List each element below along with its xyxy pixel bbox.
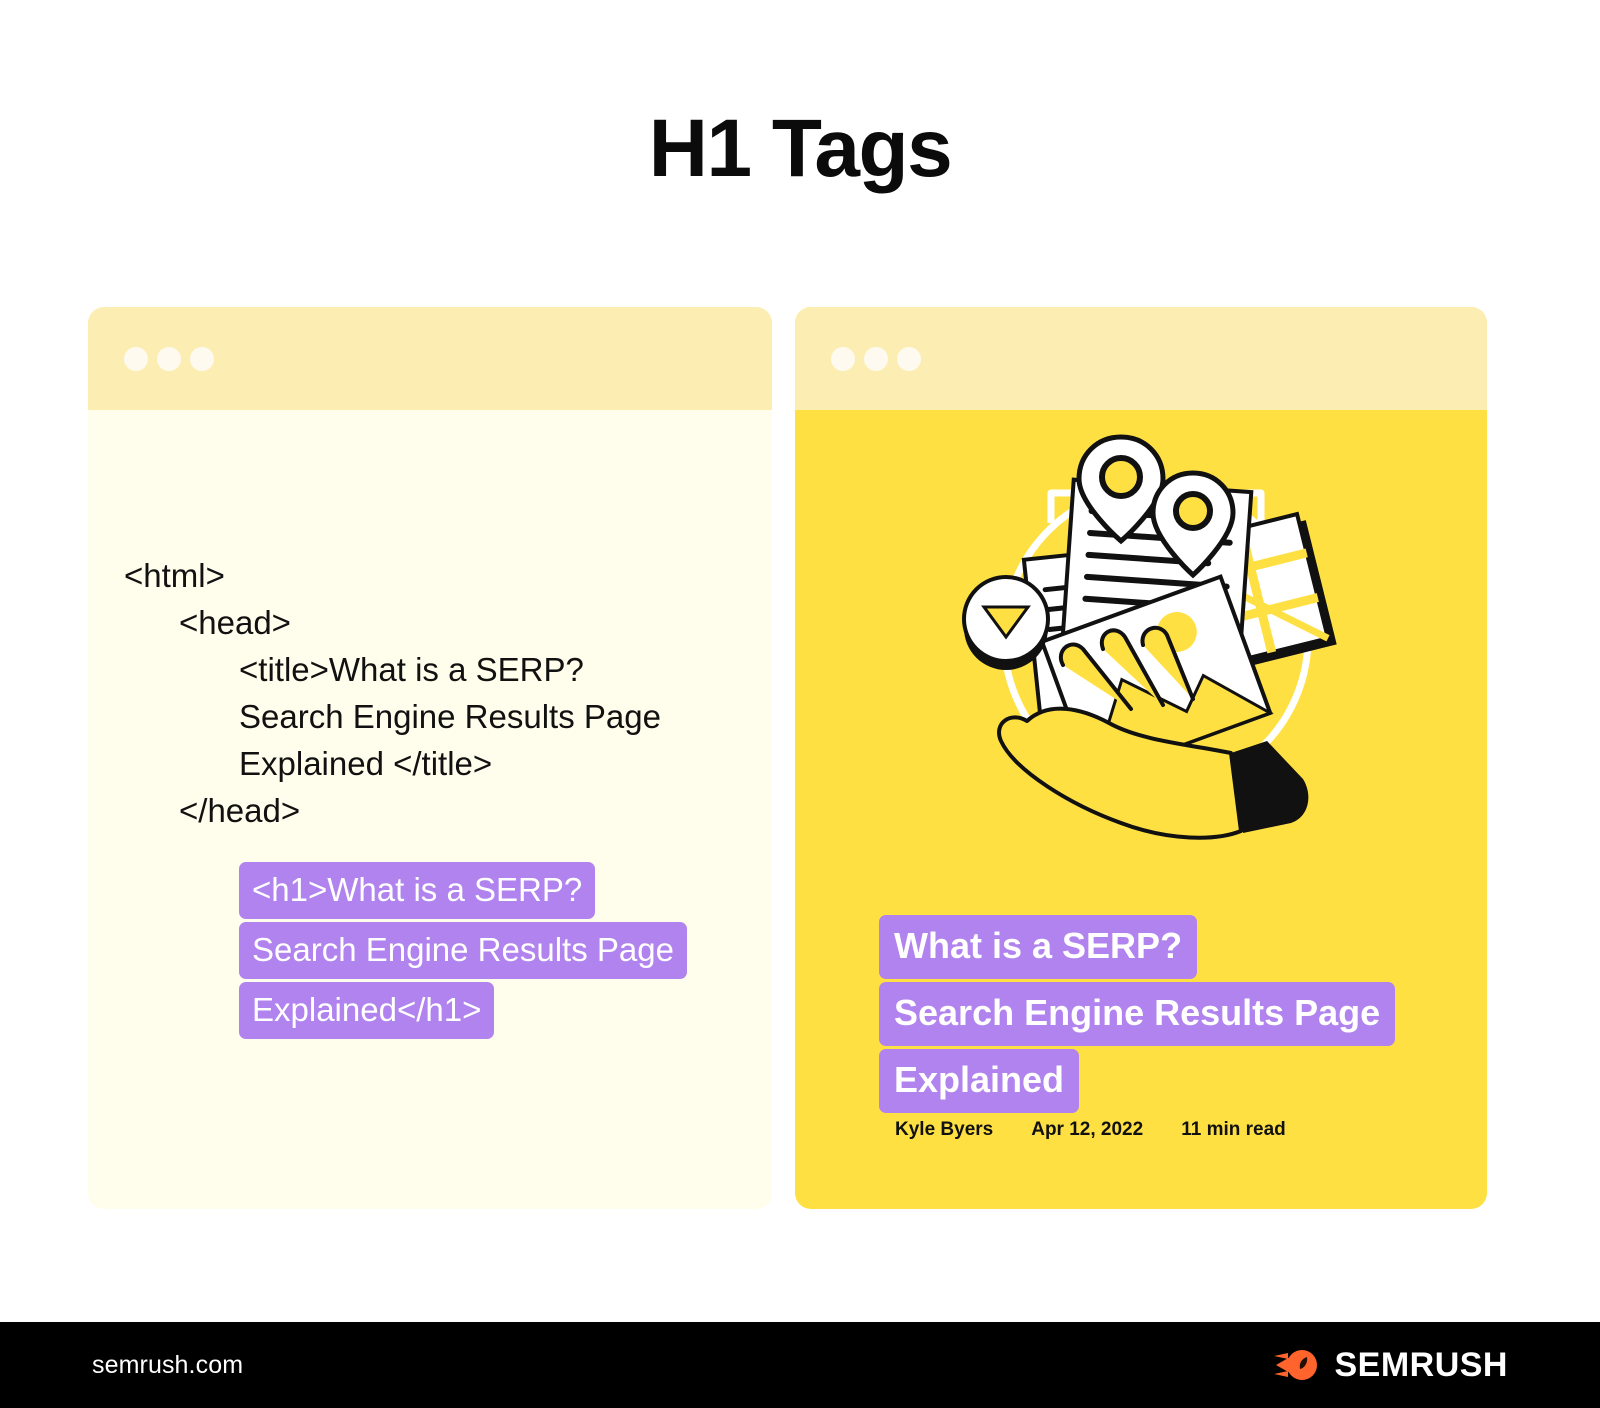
code-example-window: <html> <head> <title>What is a SERP? Sea… — [88, 307, 772, 1209]
hero-illustration-container — [795, 410, 1487, 865]
code-spacer — [124, 834, 772, 862]
code-line-title-cont: Search Engine Results Page — [124, 693, 772, 740]
article-h1-line-1: What is a SERP? — [879, 915, 1197, 979]
code-line-title-close: Explained </title> — [124, 740, 772, 787]
code-line-head-open: <head> — [124, 599, 772, 646]
h1-highlight-line-2: Search Engine Results Page — [239, 922, 687, 979]
h1-highlight-group: <h1>What is a SERP? Search Engine Result… — [124, 862, 772, 1042]
article-read-time: 11 min read — [1181, 1119, 1286, 1141]
window-dot-maximize-icon[interactable] — [897, 347, 921, 371]
window-dot-minimize-icon[interactable] — [864, 347, 888, 371]
window-dot-minimize-icon[interactable] — [157, 347, 181, 371]
code-line-html-open: <html> — [124, 552, 772, 599]
semrush-logo[interactable]: SEMRUSH — [1274, 1346, 1508, 1385]
footer-url[interactable]: semrush.com — [92, 1351, 243, 1380]
article-h1-line-3: Explained — [879, 1049, 1079, 1113]
hand-holding-documents-map-pin-icon — [931, 423, 1351, 853]
window-dot-close-icon[interactable] — [831, 347, 855, 371]
footer-bar: semrush.com SEMRUSH — [0, 1322, 1600, 1408]
article-meta: Kyle Byers Apr 12, 2022 11 min read — [895, 1119, 1286, 1141]
article-author: Kyle Byers — [895, 1119, 993, 1141]
semrush-comet-icon — [1274, 1348, 1320, 1382]
window-titlebar-left — [88, 307, 772, 410]
window-dot-maximize-icon[interactable] — [190, 347, 214, 371]
page-title: H1 Tags — [0, 108, 1600, 190]
article-h1-heading: What is a SERP? Search Engine Results Pa… — [879, 915, 1395, 1116]
rendered-page-window: What is a SERP? Search Engine Results Pa… — [795, 307, 1487, 1209]
code-line-head-close: </head> — [124, 787, 772, 834]
h1-highlight-line-3: Explained</h1> — [239, 982, 494, 1039]
window-dot-close-icon[interactable] — [124, 347, 148, 371]
code-block: <html> <head> <title>What is a SERP? Sea… — [88, 410, 772, 1209]
article-h1-line-2: Search Engine Results Page — [879, 982, 1395, 1046]
code-line-title-open: <title>What is a SERP? — [124, 646, 772, 693]
window-titlebar-right — [795, 307, 1487, 410]
semrush-wordmark: SEMRUSH — [1334, 1346, 1508, 1385]
article-date: Apr 12, 2022 — [1031, 1119, 1143, 1141]
h1-highlight-line-1: <h1>What is a SERP? — [239, 862, 595, 919]
